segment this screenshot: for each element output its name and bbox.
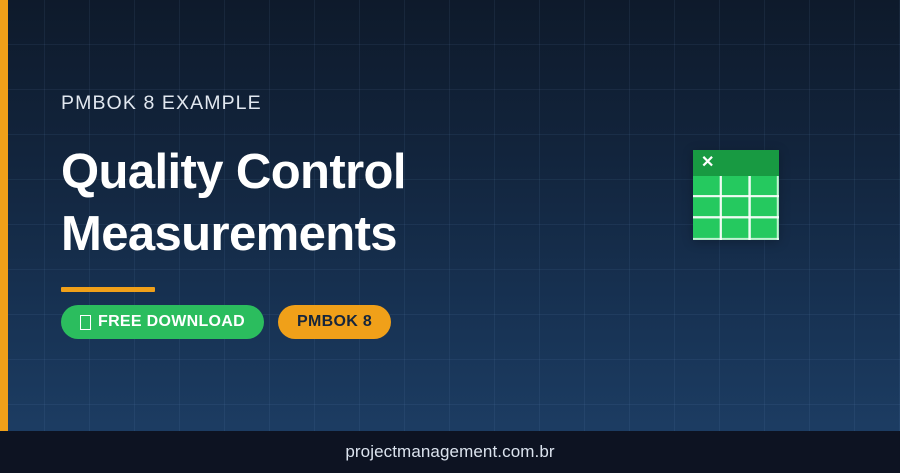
banner-content: PMBOK 8 EXAMPLE Quality Control Measurem… <box>61 0 621 431</box>
pmbok-badge-label: PMBOK 8 <box>297 313 372 331</box>
footer-bar: projectmanagement.com.br <box>0 431 900 473</box>
eyebrow-label: PMBOK 8 EXAMPLE <box>61 92 262 115</box>
spreadsheet-icon: ✕ <box>693 150 779 240</box>
title-divider <box>61 287 155 292</box>
left-accent-bar <box>0 0 8 431</box>
promo-banner: PMBOK 8 EXAMPLE Quality Control Measurem… <box>0 0 900 473</box>
close-x-icon: ✕ <box>701 154 714 172</box>
page-title: Quality Control Measurements <box>61 141 581 265</box>
missing-glyph-box-icon <box>80 315 91 330</box>
pmbok-badge[interactable]: PMBOK 8 <box>278 305 391 339</box>
page-title-line-1: Quality Control <box>61 141 581 203</box>
spreadsheet-grid-line-v2 <box>749 176 751 240</box>
spreadsheet-icon-grid <box>693 176 779 240</box>
footer-site-url: projectmanagement.com.br <box>345 442 554 462</box>
badge-group: FREE DOWNLOAD PMBOK 8 <box>61 305 391 339</box>
free-download-badge-label: FREE DOWNLOAD <box>98 313 245 331</box>
spreadsheet-grid-line-v1 <box>720 176 722 240</box>
free-download-badge[interactable]: FREE DOWNLOAD <box>61 305 264 339</box>
spreadsheet-icon-header: ✕ <box>693 150 779 176</box>
page-title-line-2: Measurements <box>61 203 581 265</box>
spreadsheet-grid-line-h1 <box>693 195 779 197</box>
spreadsheet-grid-line-h2 <box>693 216 779 218</box>
